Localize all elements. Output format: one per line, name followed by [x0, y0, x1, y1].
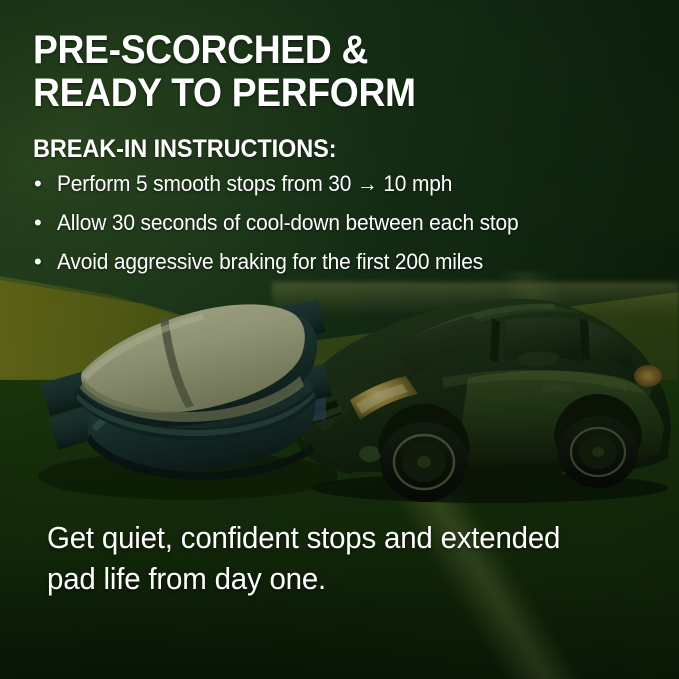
- list-item: • Allow 30 seconds of cool-down between …: [34, 210, 654, 249]
- bullet-dot-icon: •: [34, 210, 57, 236]
- list-item-label: Allow 30 seconds of cool-down between ea…: [57, 210, 519, 236]
- break-in-instructions-heading: BREAK-IN INSTRUCTIONS:: [33, 135, 336, 164]
- poster-headline: PRE-SCORCHED & READY TO PERFORM: [33, 29, 602, 115]
- list-item-label: Perform 5 smooth stops from 30 → 10 mph: [57, 171, 452, 197]
- bullet-dot-icon: •: [34, 171, 57, 197]
- bullet-dot-icon: •: [34, 249, 57, 275]
- list-item: • Avoid aggressive braking for the first…: [34, 249, 654, 288]
- break-in-instructions-list: • Perform 5 smooth stops from 30 → 10 mp…: [34, 171, 654, 288]
- poster-copy: PRE-SCORCHED & READY TO PERFORM BREAK-IN…: [0, 0, 679, 679]
- brake-pad-promo-poster: PRE-SCORCHED & READY TO PERFORM BREAK-IN…: [0, 0, 679, 679]
- list-item-label: Avoid aggressive braking for the first 2…: [57, 249, 483, 275]
- list-item: • Perform 5 smooth stops from 30 → 10 mp…: [34, 171, 654, 210]
- poster-caption: Get quiet, confident stops and extended …: [47, 517, 617, 599]
